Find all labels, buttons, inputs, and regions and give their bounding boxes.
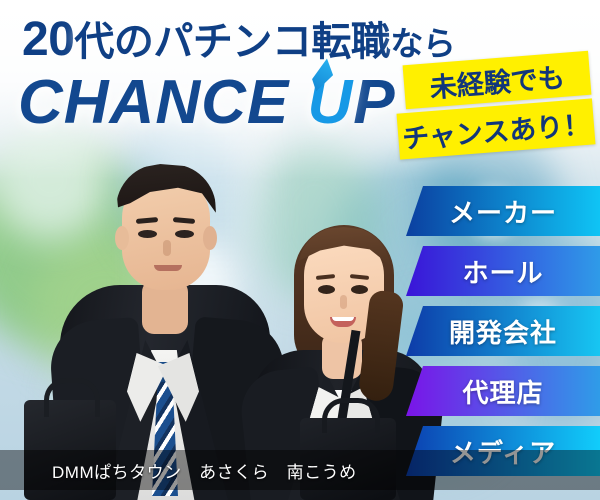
category-button-developer[interactable]: 開発会社 — [406, 306, 600, 356]
category-button-list: メーカー ホール 開発会社 代理店 メディア — [0, 0, 600, 500]
category-button-maker[interactable]: メーカー — [406, 186, 600, 236]
category-button-agency[interactable]: 代理店 — [406, 366, 600, 416]
category-button-hall[interactable]: ホール — [406, 246, 600, 296]
credit-text: DMMぱちタウン あさくら 南こうめ — [52, 458, 357, 483]
ad-banner: 20 代の パチンコ転職 なら CHANCE UP 未経験でも チャンスあり！ … — [0, 0, 600, 500]
credit-bar: DMMぱちタウン あさくら 南こうめ — [0, 450, 600, 490]
